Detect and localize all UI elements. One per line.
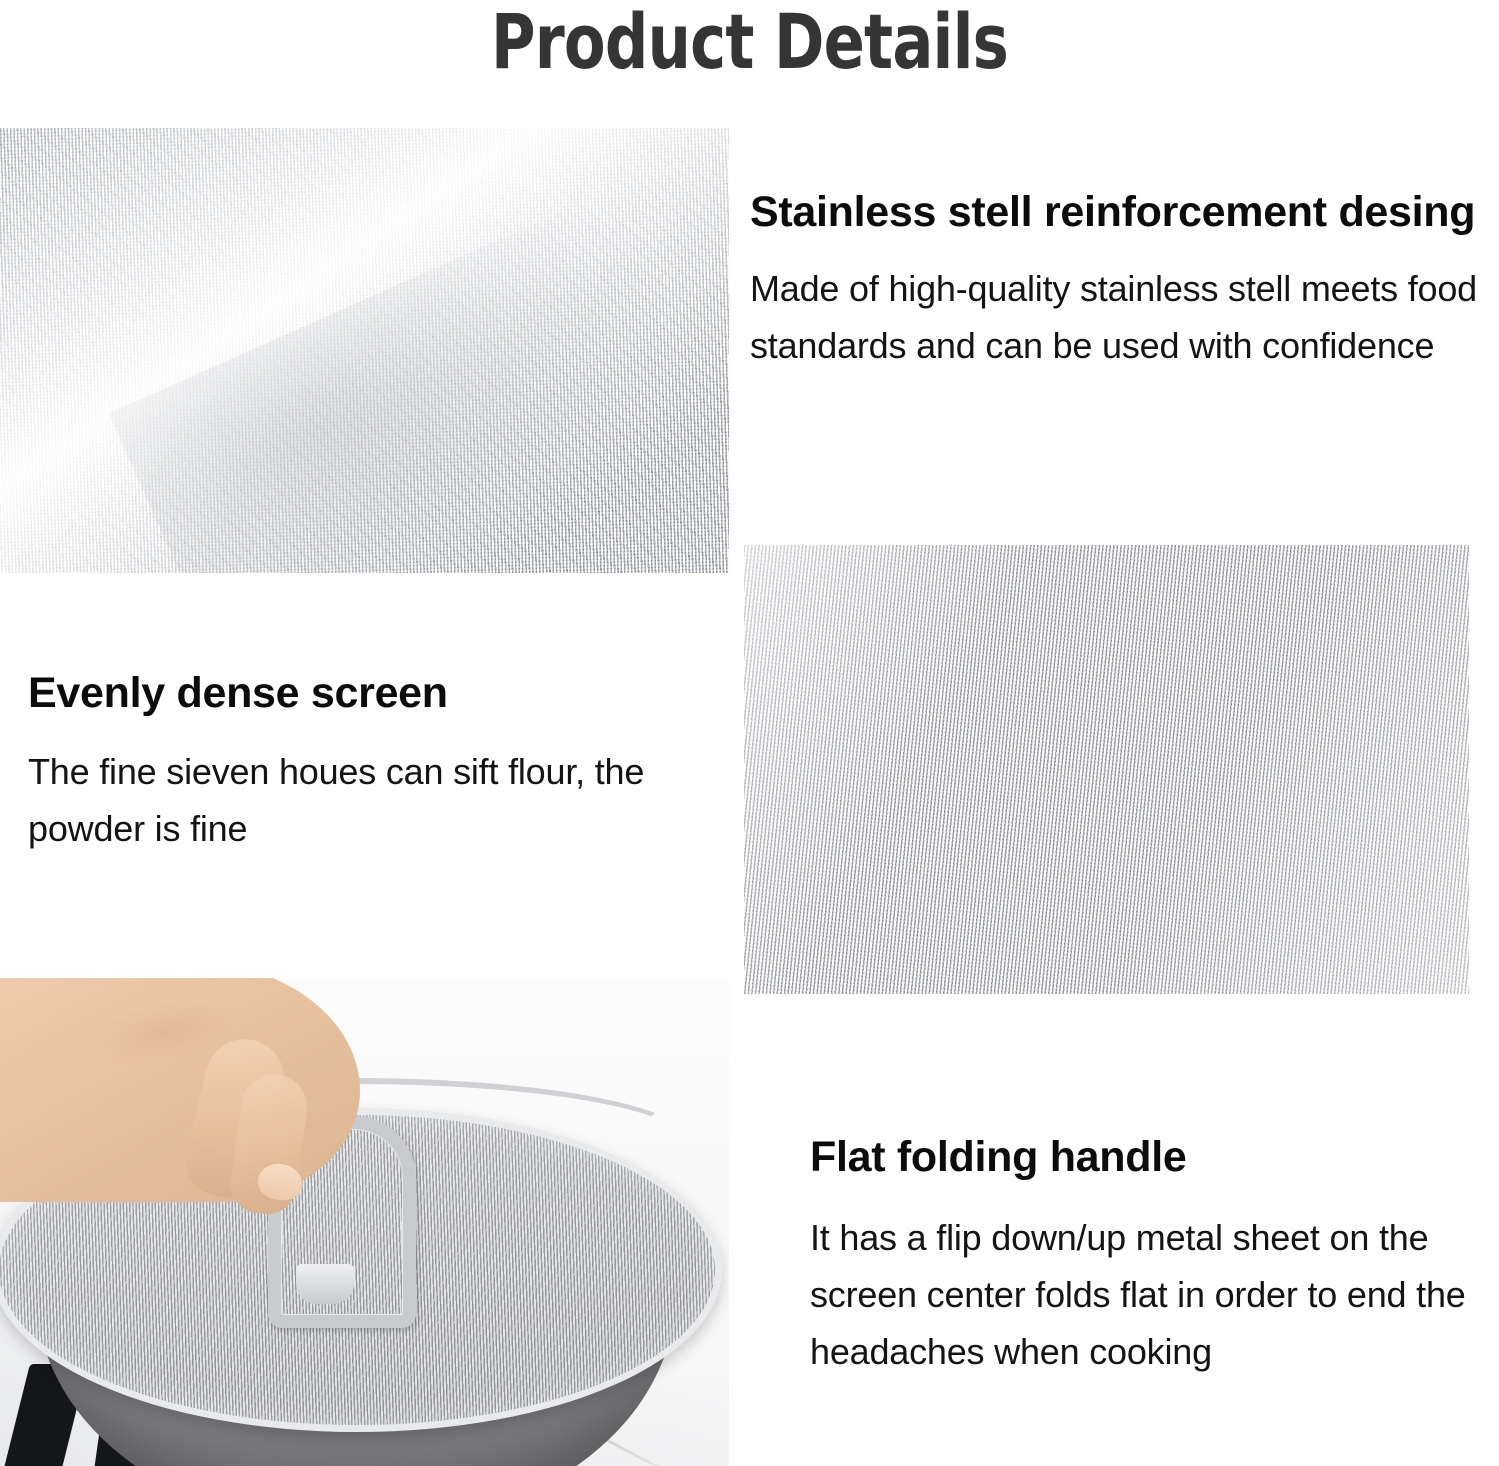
mesh-sheen-overlay xyxy=(744,545,1469,994)
product-photo-mesh-swatch xyxy=(744,545,1469,994)
spacer xyxy=(750,238,1495,260)
feature-body-evenly-dense-screen: The fine sieven houes can sift flour, th… xyxy=(28,743,708,857)
product-photo-mesh-screen-closeup xyxy=(0,128,729,573)
feature-heading-evenly-dense-screen: Evenly dense screen xyxy=(28,668,708,719)
page-title: Product Details xyxy=(150,0,1349,92)
feature-block-evenly-dense-screen: Evenly dense screen The fine sieven houe… xyxy=(28,668,708,857)
hand xyxy=(0,978,360,1202)
feature-block-stainless-steel: Stainless stell reinforcement desing Mad… xyxy=(750,186,1495,374)
spacer xyxy=(28,719,708,743)
spacer xyxy=(810,1183,1480,1209)
feature-heading-stainless-steel: Stainless stell reinforcement desing xyxy=(750,186,1495,238)
feature-heading-flat-folding-handle: Flat folding handle xyxy=(810,1132,1480,1183)
folding-handle-base xyxy=(296,1264,354,1304)
feature-body-stainless-steel: Made of high-quality stainless stell mee… xyxy=(750,260,1495,374)
feature-body-flat-folding-handle: It has a flip down/up metal sheet on the… xyxy=(810,1209,1480,1380)
product-photo-hand-lifting-handle-on-wok xyxy=(0,978,729,1466)
feature-block-flat-folding-handle: Flat folding handle It has a flip down/u… xyxy=(810,1132,1480,1380)
